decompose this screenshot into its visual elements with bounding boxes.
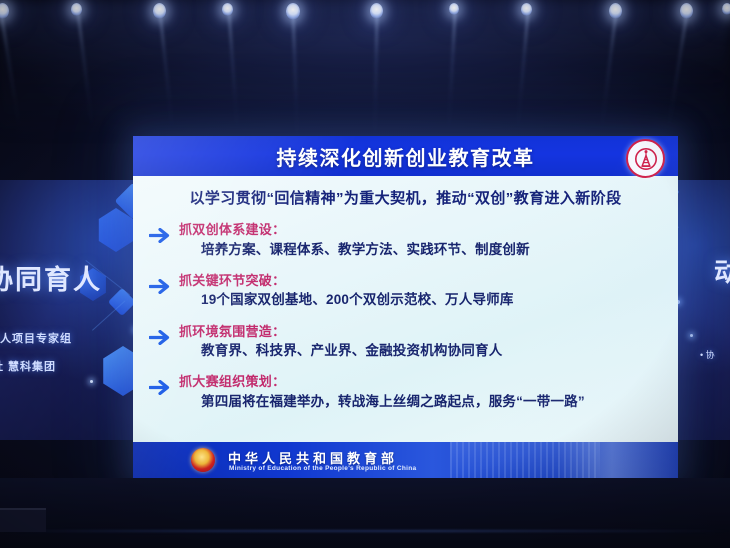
slide-bullet-list: 抓双创体系建设： 培养方案、课程体系、教学方法、实践环节、制度创新 抓关键环节突… (133, 214, 678, 412)
led-wall-right-headline: 动 (714, 252, 730, 289)
bullet-heading: 抓环境氛围营造： (179, 322, 678, 342)
decor-hexagon (96, 208, 136, 252)
arrow-right-icon (149, 279, 179, 294)
stage-floor-edge (0, 530, 730, 532)
arrow-right-icon (149, 380, 179, 395)
arrow-right-icon (149, 228, 179, 243)
slide-title-bar: 持续深化创新创业教育改革 (133, 136, 678, 176)
led-wall-left-line1: 协同育人项目专家组 (0, 330, 72, 346)
bullet-text-group: 抓大赛组织策划： 第四届将在福建举办，转战海上丝绸之路起点，服务“一带一路” (179, 372, 678, 412)
bullet-detail: 培养方案、课程体系、教学方法、实践环节、制度创新 (179, 240, 678, 260)
led-wall-left-line2: 出版社 慧科集团 (0, 358, 56, 374)
light-beam (228, 12, 238, 130)
tower-emblem-logo-icon (626, 139, 665, 178)
decor-net-line (92, 301, 125, 331)
light-beam (159, 12, 173, 130)
stage-floor-prop (0, 508, 46, 532)
bullet-item: 抓环境氛围营造： 教育界、科技界、产业界、金融投资机构协同育人 (133, 322, 678, 362)
bullet-item: 抓双创体系建设： 培养方案、课程体系、教学方法、实践环节、制度创新 (133, 220, 678, 260)
led-wall-left (0, 180, 150, 440)
national-emblem-icon (191, 448, 215, 472)
light-beam (668, 12, 688, 129)
projected-slide: 持续深化创新创业教育改革 以学习贯彻“回信精神”为重大契机，推动“双创”教育进入… (133, 136, 678, 478)
light-beam (517, 12, 529, 130)
slide-subtitle: 以学习贯彻“回信精神”为重大契机，推动“双创”教育进入新阶段 (133, 176, 678, 214)
led-wall-right-bullet: • 协 (700, 348, 715, 361)
light-beam (292, 12, 298, 140)
stage-light-truss (0, 0, 730, 130)
arrow-right-icon (149, 330, 179, 345)
bullet-heading: 抓关键环节突破： (179, 271, 678, 291)
decor-cube (108, 288, 136, 316)
bullet-text-group: 抓环境氛围营造： 教育界、科技界、产业界、金融投资机构协同育人 (179, 322, 678, 362)
bullet-detail: 19个国家双创基地、200个双创示范校、万人导师库 (179, 290, 678, 310)
light-beam (448, 12, 456, 130)
stage-scene: 协同育人 协同育人项目专家组 出版社 慧科集团 动 • 协 持续深化创新创业教育… (0, 0, 730, 548)
light-beam (77, 12, 93, 129)
ministry-name-en: Ministry of Education of the People's Re… (229, 465, 416, 472)
bullet-heading: 抓大赛组织策划： (179, 372, 678, 392)
bullet-item: 抓关键环节突破： 19个国家双创基地、200个双创示范校、万人导师库 (133, 271, 678, 311)
slide-footer: 中华人民共和国教育部 Ministry of Education of the … (133, 442, 678, 478)
bullet-text-group: 抓关键环节突破： 19个国家双创基地、200个双创示范校、万人导师库 (179, 271, 678, 311)
slide-title: 持续深化创新创业教育改革 (277, 142, 535, 171)
led-wall-left-headline: 协同育人 (0, 258, 102, 297)
footer-sheen (558, 442, 678, 478)
stage-lamp (722, 3, 730, 15)
bullet-detail: 第四届将在福建举办，转战海上丝绸之路起点，服务“一带一路” (179, 392, 678, 412)
stage-floor (0, 478, 730, 548)
light-beam (0, 12, 20, 129)
light-beam (601, 12, 617, 129)
bullet-detail: 教育界、科技界、产业界、金融投资机构协同育人 (179, 341, 678, 361)
bullet-text-group: 抓双创体系建设： 培养方案、课程体系、教学方法、实践环节、制度创新 (179, 220, 678, 260)
light-beam (374, 12, 378, 138)
bullet-item: 抓大赛组织策划： 第四届将在福建举办，转战海上丝绸之路起点，服务“一带一路” (133, 372, 678, 412)
decor-spark (690, 334, 693, 337)
bullet-heading: 抓双创体系建设： (179, 220, 678, 240)
decor-spark (90, 380, 93, 383)
